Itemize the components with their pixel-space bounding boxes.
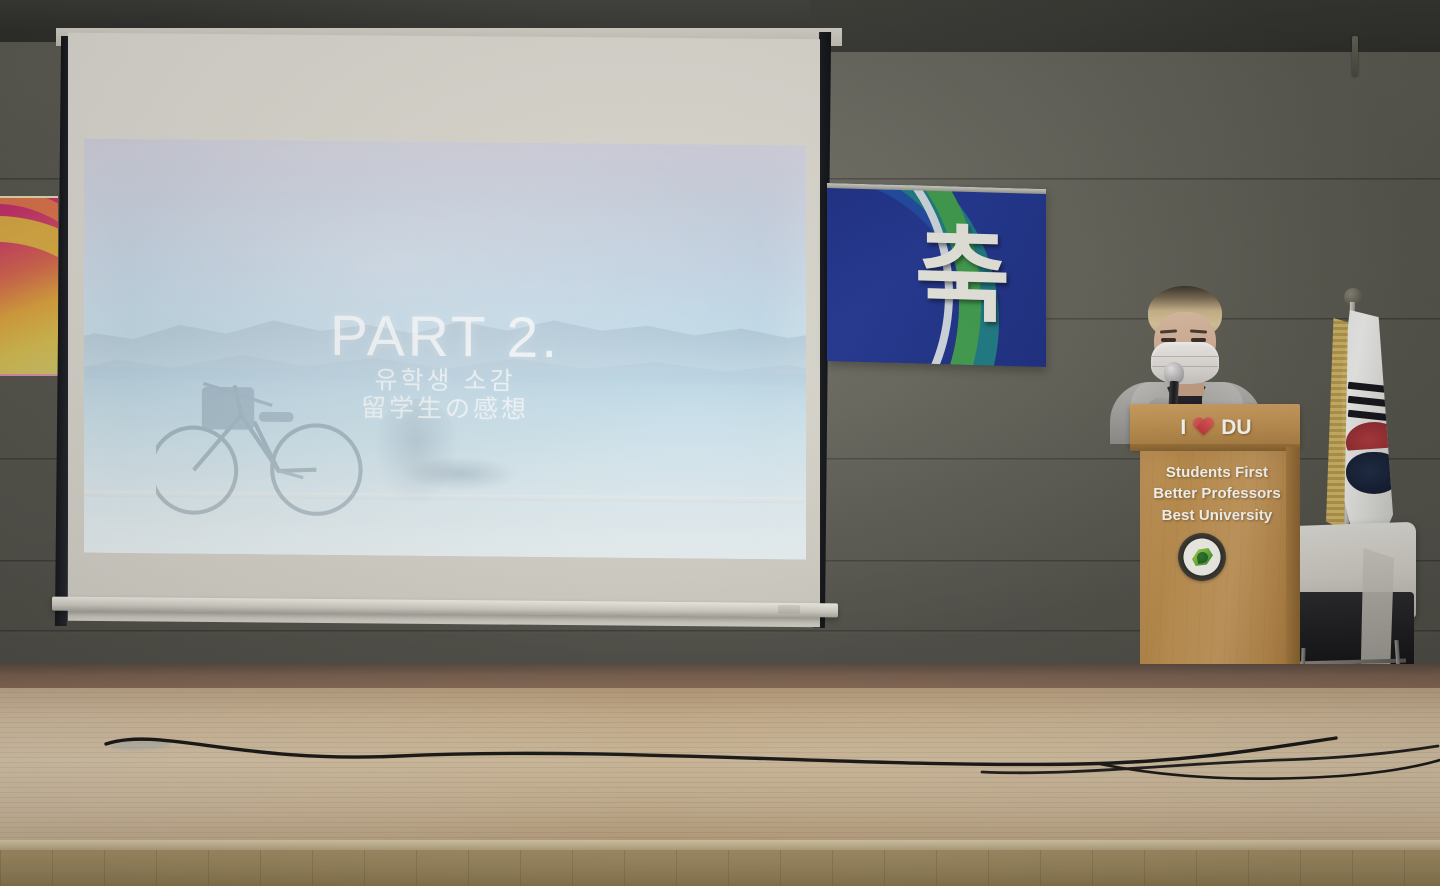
celebration-banner: 축 [827,183,1046,367]
banner-character: 축 [827,183,1046,367]
university-seal-icon [1178,533,1226,581]
heart-icon [1193,418,1214,437]
screen-pull-knob [778,605,800,614]
podium-slogan: I DU [1150,414,1282,440]
left-partial-banner [0,196,58,376]
projected-slide: PART 2. 유학생 소감 留学生の感想 [84,139,806,560]
flag-trigram-bar [1348,410,1391,421]
mask-fold [1152,356,1218,357]
flag-trigram-bar [1348,396,1391,407]
stage-wood-floor [0,688,1440,848]
slide-subtitle-korean: 유학생 소감 [84,364,806,396]
podium-motto: Students First Better Professors Best Un… [1140,462,1294,526]
slide-sky-tint [84,139,806,320]
slide-text-block: PART 2. 유학생 소감 留学生の感想 [84,304,806,425]
stage-riser [0,664,1440,690]
podium-slogan-suffix: DU [1221,417,1251,438]
podium-motto-line-1: Students First [1140,462,1294,483]
banner-swoosh-white [0,196,58,376]
podium-slogan-prefix: I [1180,417,1186,438]
stage-front-face [0,850,1440,886]
seal-inner [1187,542,1217,572]
south-korea-flag [1324,288,1416,556]
slide-title: PART 2. [84,304,806,369]
mask-fold [1152,366,1218,367]
podium-motto-line-3: Best University [1140,505,1294,526]
speaker-face-mask [1151,342,1219,384]
flag-trigram-bar [1348,382,1391,393]
podium-top-edge [1130,444,1300,451]
auditorium-stage-photo: PART 2. 유학생 소감 留学生の感想 축 [0,0,1440,886]
podium-motto-line-2: Better Professors [1140,483,1294,504]
flag-taeguk-blue [1346,452,1402,494]
